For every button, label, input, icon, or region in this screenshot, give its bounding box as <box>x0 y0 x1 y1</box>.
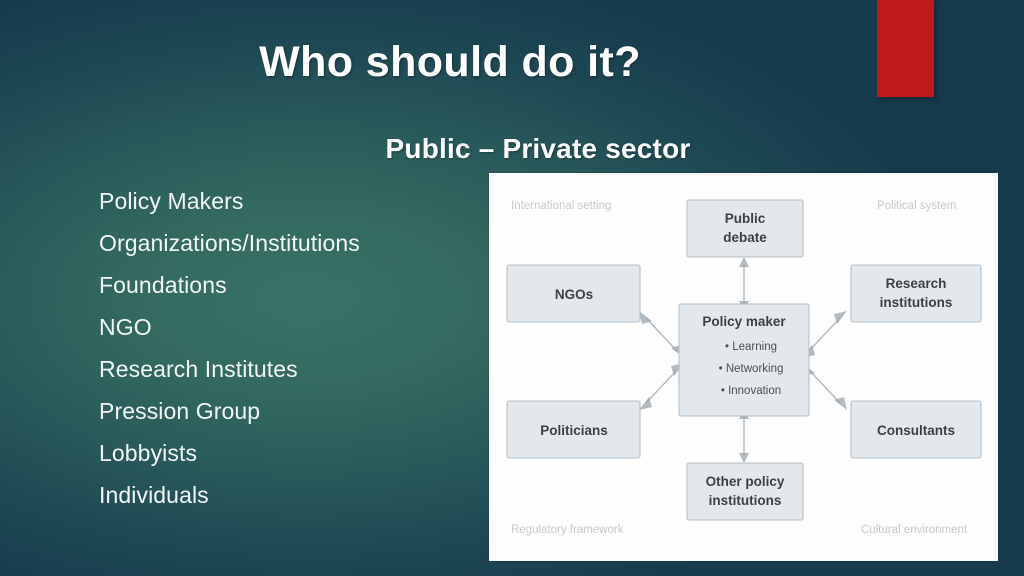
svg-text:Public: Public <box>725 211 766 226</box>
diagram-canvas: International setting Political system R… <box>489 173 998 561</box>
diagram-box-politicians: Politicians <box>507 401 640 458</box>
svg-text:Research: Research <box>886 276 947 291</box>
svg-text:Other policy: Other policy <box>706 474 785 489</box>
list-item: Pression Group <box>99 390 479 432</box>
svg-text:Policy maker: Policy maker <box>702 314 786 329</box>
diagram-box-research-institutions: Research institutions <box>851 265 981 322</box>
corner-label-international-setting: International setting <box>511 200 611 212</box>
svg-text:Consultants: Consultants <box>877 423 955 438</box>
connector-public-debate-policy-maker <box>739 257 749 311</box>
diagram-box-public-debate: Public debate <box>687 200 803 257</box>
presentation-slide: Who should do it? Public – Private secto… <box>0 0 1024 576</box>
connector-ngos-policy-maker <box>639 311 684 358</box>
connector-politicians-policy-maker <box>639 363 684 410</box>
stakeholder-list: Policy Makers Organizations/Institutions… <box>99 180 479 516</box>
list-item: Lobbyists <box>99 432 479 474</box>
corner-label-regulatory-framework: Regulatory framework <box>511 524 624 536</box>
svg-text:NGOs: NGOs <box>555 287 593 302</box>
svg-text:• Learning: • Learning <box>725 341 777 353</box>
svg-text:• Innovation: • Innovation <box>721 385 781 397</box>
list-item: Individuals <box>99 474 479 516</box>
diagram-box-ngos: NGOs <box>507 265 640 322</box>
svg-text:institutions: institutions <box>709 493 782 508</box>
slide-subtitle: Public – Private sector <box>258 133 818 165</box>
list-item: Research Institutes <box>99 348 479 390</box>
slide-title: Who should do it? <box>0 38 900 87</box>
svg-text:institutions: institutions <box>880 295 953 310</box>
svg-text:Politicians: Politicians <box>540 423 608 438</box>
svg-text:• Networking: • Networking <box>719 363 784 375</box>
diagram-box-consultants: Consultants <box>851 401 981 458</box>
list-item: NGO <box>99 306 479 348</box>
diagram-box-policy-maker: Policy maker • Learning • Networking • I… <box>679 304 809 416</box>
corner-label-political-system: Political system <box>877 200 956 212</box>
list-item: Policy Makers <box>99 180 479 222</box>
svg-text:debate: debate <box>723 230 767 245</box>
diagram-box-other-policy-institutions: Other policy institutions <box>687 463 803 520</box>
list-item: Foundations <box>99 264 479 306</box>
policy-ecosystem-diagram: International setting Political system R… <box>489 173 998 561</box>
list-item: Organizations/Institutions <box>99 222 479 264</box>
corner-label-cultural-environment: Cultural environment <box>861 524 968 536</box>
connector-other-policy-policy-maker <box>739 409 749 463</box>
